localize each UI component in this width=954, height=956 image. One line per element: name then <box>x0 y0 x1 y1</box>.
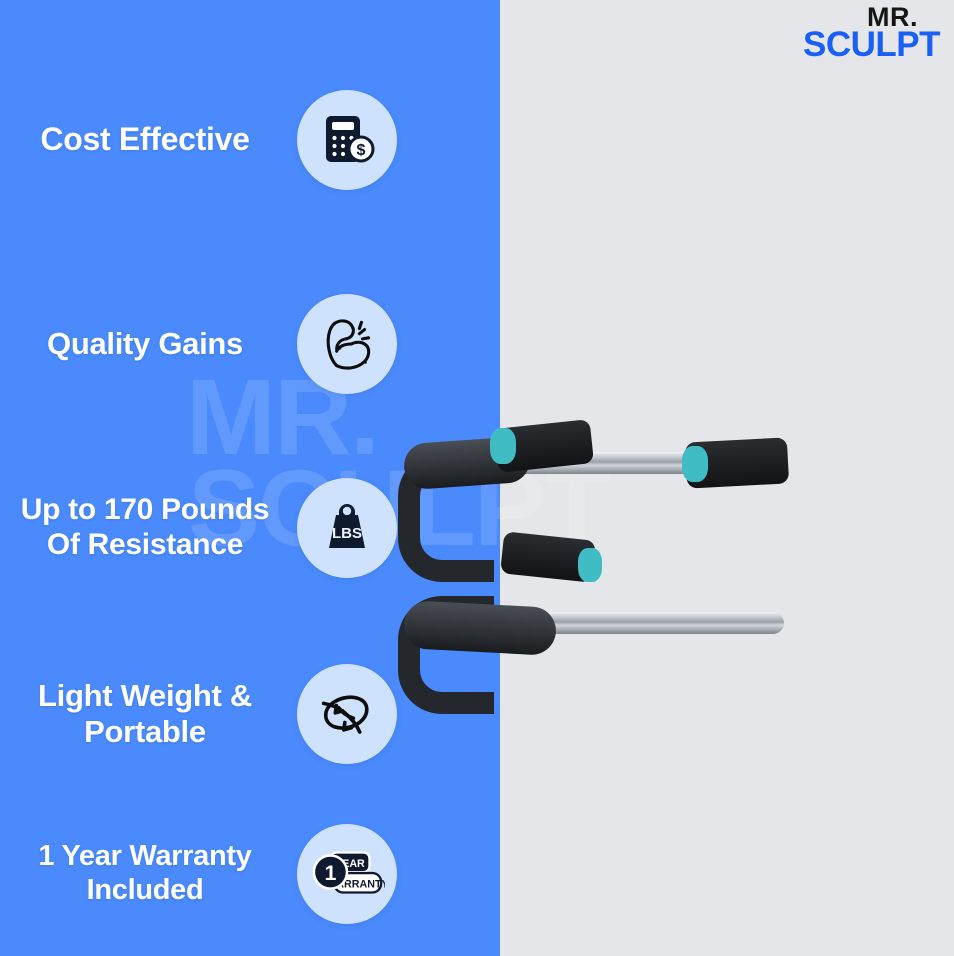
feature-label: 1 Year Warranty Included <box>0 840 290 907</box>
calculator-dollar-icon: $ <box>297 90 397 190</box>
svg-text:$: $ <box>357 142 366 159</box>
feature-portable: Light Weight & Portable <box>0 660 420 768</box>
feature-warranty: 1 Year Warranty Included YEAR WARRANTY 1 <box>0 820 420 928</box>
feature-line: 1 Year Warranty <box>0 840 290 874</box>
one-year-warranty-badge-icon: YEAR WARRANTY 1 <box>297 824 397 924</box>
svg-text:1: 1 <box>324 861 336 885</box>
feature-label: Up to 170 Pounds Of Resistance <box>0 493 290 563</box>
teal-accent-ring-3 <box>578 548 602 582</box>
brand-logo: MR. SCULPT <box>803 4 940 62</box>
teal-accent-ring-2 <box>682 446 708 482</box>
feature-cost-effective: Cost Effective $ <box>0 88 420 192</box>
feature-label: Quality Gains <box>0 326 290 362</box>
product-foam-grip-bottom <box>403 600 557 656</box>
feature-quality-gains: Quality Gains <box>0 292 420 396</box>
brand-logo-sculpt: SCULPT <box>803 27 940 62</box>
feature-resistance: Up to 170 Pounds Of Resistance LBS <box>0 474 420 582</box>
feature-line: Up to 170 Pounds <box>0 493 290 528</box>
feature-line: Quality Gains <box>0 326 290 362</box>
feature-line: Light Weight & <box>0 678 290 714</box>
feature-line: Cost Effective <box>0 121 290 158</box>
feature-line: Of Resistance <box>0 528 290 563</box>
feature-label: Cost Effective <box>0 121 290 158</box>
weight-lbs-icon: LBS <box>297 478 397 578</box>
feature-line: Portable <box>0 714 290 750</box>
product-feature-graphic: MR. SCULPT Cost Effective $ <box>0 0 954 956</box>
feature-label: Light Weight & Portable <box>0 678 290 750</box>
flexed-biceps-icon <box>297 294 397 394</box>
feature-line: Included <box>0 874 290 908</box>
teal-accent-ring-1 <box>490 428 516 464</box>
feather-icon <box>297 664 397 764</box>
svg-text:LBS: LBS <box>332 525 362 542</box>
